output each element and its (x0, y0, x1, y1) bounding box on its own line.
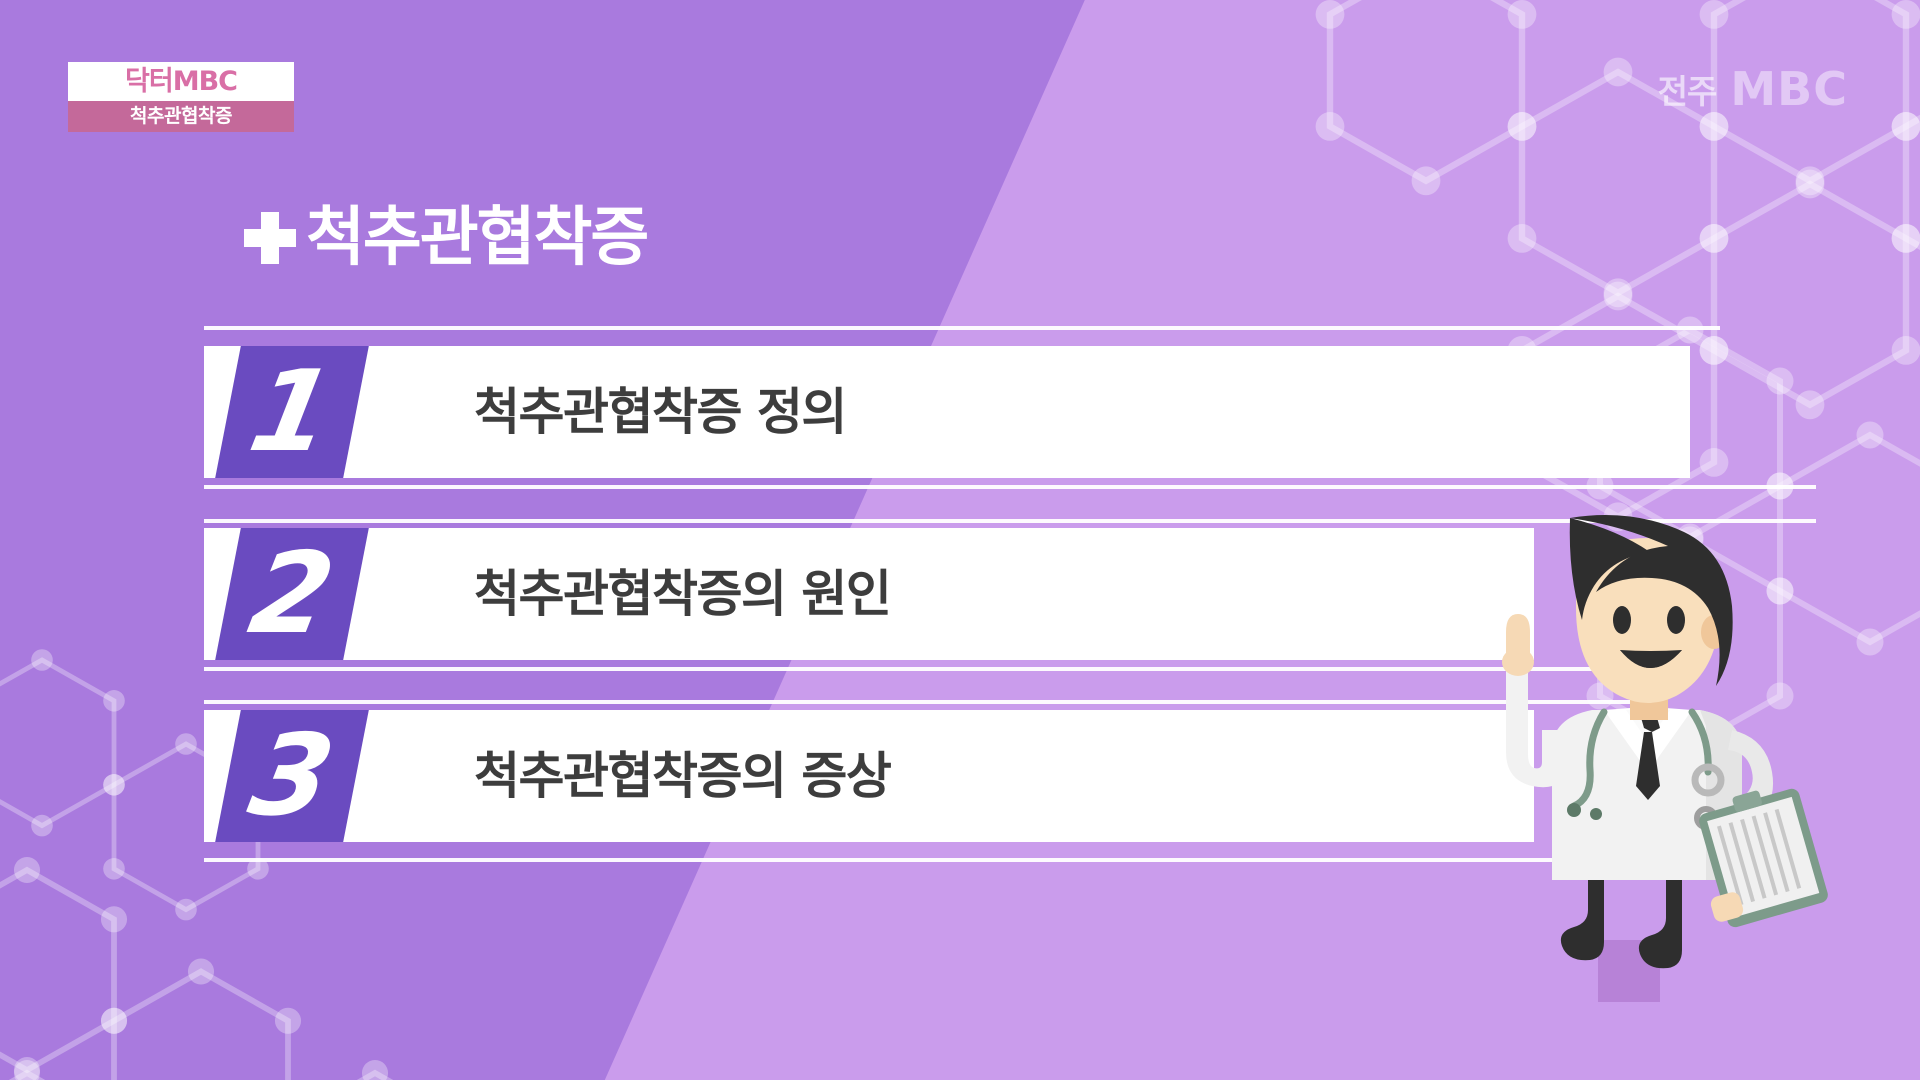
list-item-label: 척추관협착증의 증상 (474, 710, 890, 842)
doctor-character (1500, 480, 1830, 1080)
divider-line-top (204, 326, 1720, 330)
list-item-bar (204, 346, 1690, 478)
list-item-number: 2 (242, 538, 342, 650)
divider-line-3 (204, 667, 1644, 671)
list-item-number: 1 (242, 356, 342, 468)
divider-line-bottom (204, 858, 1604, 862)
list-item-label: 척추관협착증 정의 (474, 346, 846, 478)
slide-canvas: 닥터MBC 척추관협착증 전주 MBC 척추관협착증 1 척추관협착증 정의 (0, 0, 1920, 1080)
list-item-number-badge: 2 (215, 528, 369, 660)
list-item-number: 3 (242, 720, 342, 832)
divider-line-4 (204, 700, 1644, 704)
list-item-number-badge: 1 (215, 346, 369, 478)
list-item-label: 척추관협착증의 원인 (474, 528, 890, 660)
list-item-number-badge: 3 (215, 710, 369, 842)
